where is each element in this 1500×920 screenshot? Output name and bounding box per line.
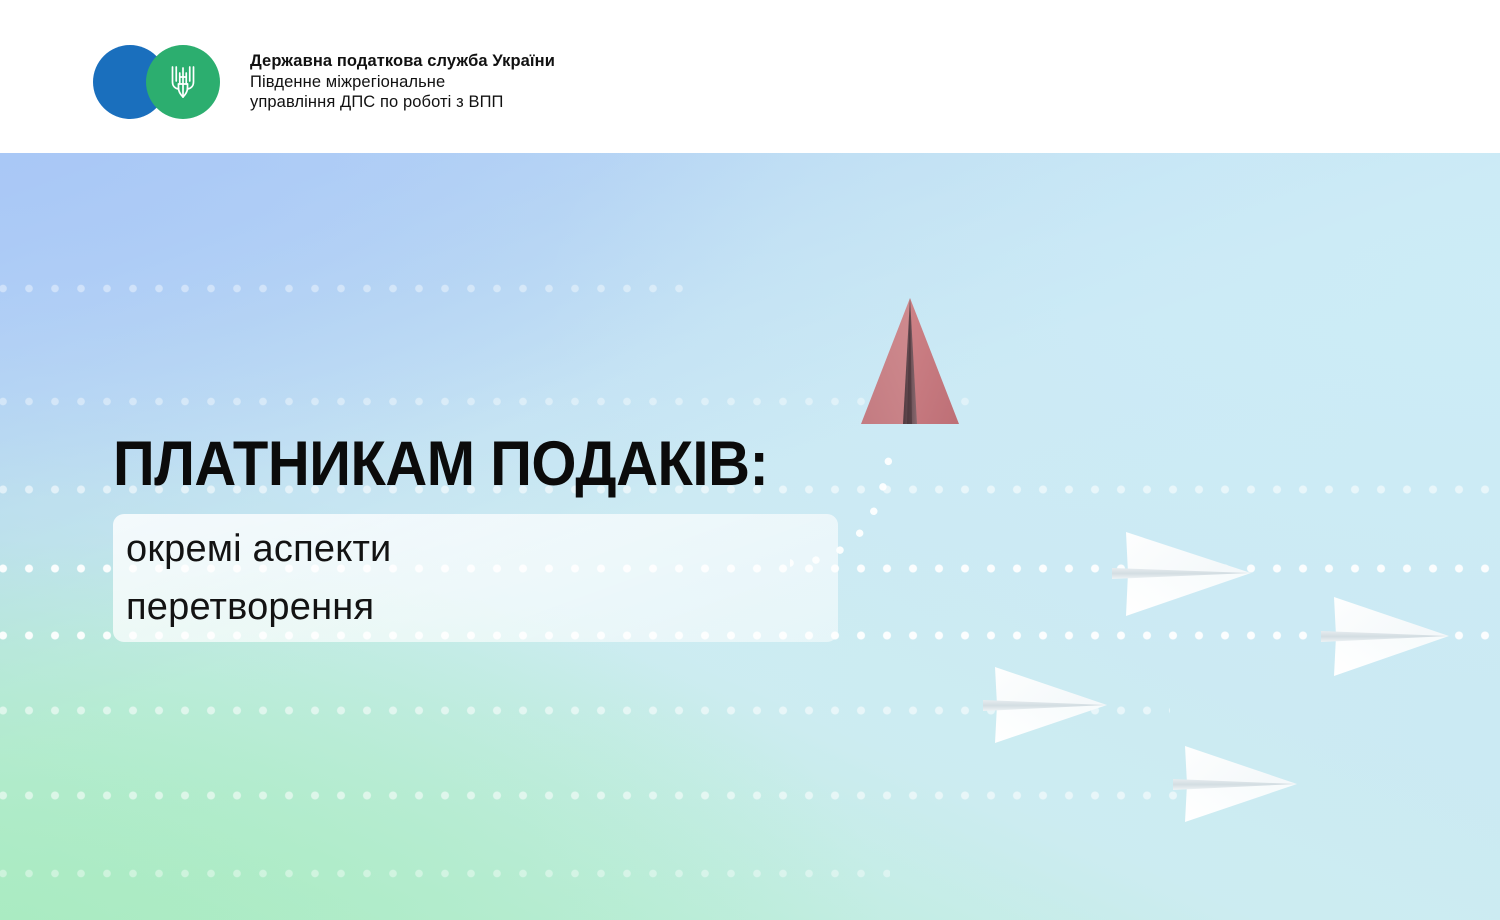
dotted-trail-upper bbox=[0, 396, 970, 407]
page-subtitle: окремі аспекти перетворення bbox=[126, 520, 826, 636]
slide-page: Державна податкова служба України Півден… bbox=[0, 0, 1500, 920]
logo-circles bbox=[93, 45, 210, 119]
dotted-trail-bottom bbox=[0, 790, 1190, 801]
red-paper-plane bbox=[855, 293, 965, 428]
page-title: ПЛАТНИКАМ ПОДАКІВ: bbox=[113, 432, 768, 496]
white-paper-plane-1 bbox=[1108, 524, 1256, 622]
org-line-2: Південне міжрегіональне bbox=[250, 72, 555, 93]
white-paper-plane-4 bbox=[1170, 740, 1302, 828]
ukrainian-trident-icon bbox=[168, 62, 198, 102]
page-header: Державна податкова служба України Півден… bbox=[0, 0, 1500, 153]
white-paper-plane-2 bbox=[1318, 590, 1454, 682]
org-line-1: Державна податкова служба України bbox=[250, 51, 555, 72]
subtitle-line-2: перетворення bbox=[126, 578, 826, 636]
dotted-trail-top bbox=[0, 283, 690, 294]
organization-logo-block: Державна податкова служба України Півден… bbox=[93, 45, 555, 119]
green-circle-icon bbox=[146, 45, 220, 119]
organization-name: Державна податкова служба України Півден… bbox=[250, 45, 555, 113]
dotted-trail-base bbox=[0, 868, 890, 879]
white-paper-plane-3 bbox=[980, 661, 1112, 749]
org-line-3: управління ДПС по роботі з ВПП bbox=[250, 92, 555, 113]
subtitle-line-1: окремі аспекти bbox=[126, 520, 826, 578]
